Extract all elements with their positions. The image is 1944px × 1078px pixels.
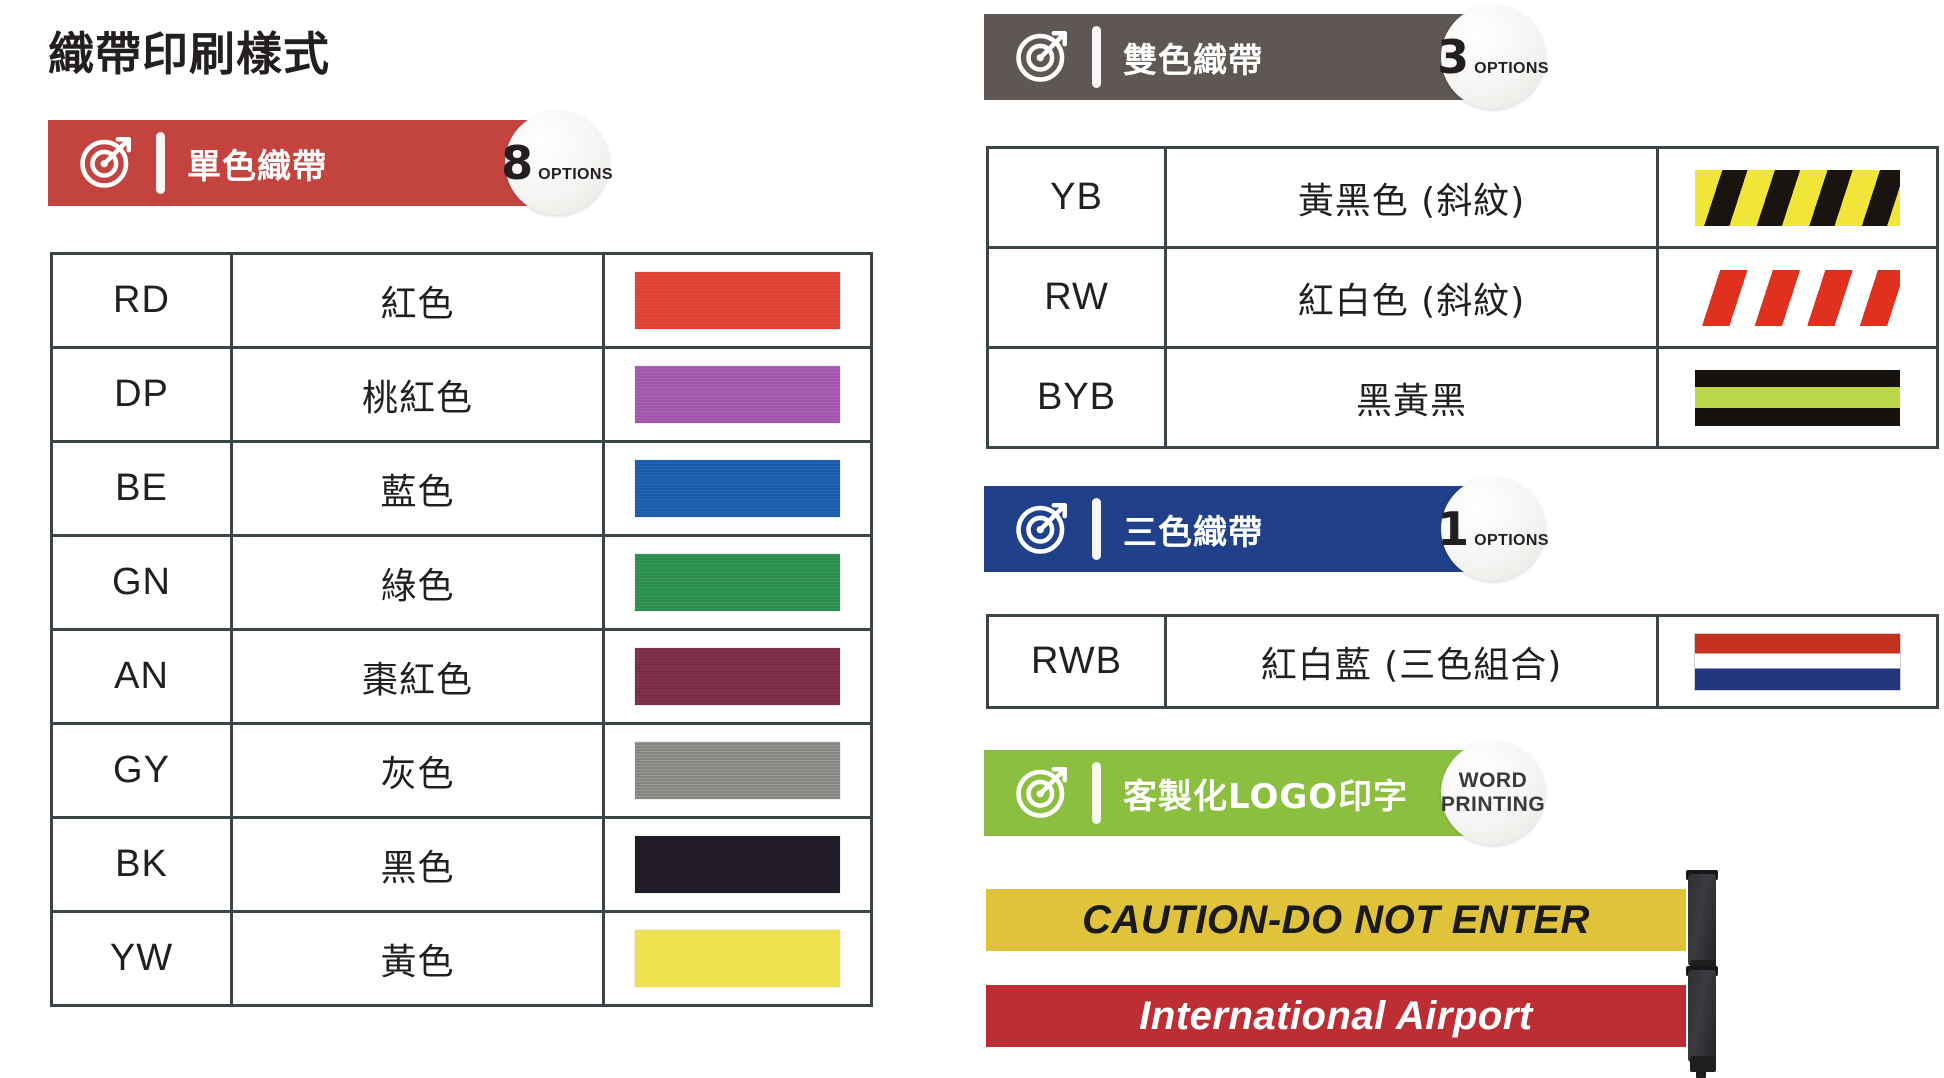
options-badge-double: 3 OPTIONS [1441,5,1545,109]
code-cell: GN [52,536,232,630]
section-label-single: 單色織帶 [187,139,327,188]
code-cell: BK [52,818,232,912]
name-cell: 黃黑色 (斜紋) [1166,148,1658,248]
swatch-cell [604,536,872,630]
name-cell: 黑色 [232,818,604,912]
code-cell: BE [52,442,232,536]
table-row: YB 黃黑色 (斜紋) [988,148,1938,248]
sample-band: International Airport [986,985,1686,1047]
badge-number: 1 [1437,506,1469,552]
name-cell: 黑黃黑 [1166,348,1658,448]
badge-word: OPTIONS [1474,532,1549,550]
swatch-cell [1658,148,1938,248]
sample-text: CAUTION-DO NOT ENTER [1082,898,1590,943]
code-cell: AN [52,630,232,724]
colour-swatch [635,648,840,705]
word-printing-badge: WORD PRINTING [1441,741,1545,845]
swatch-cell [604,724,872,818]
table-row: DP 桃紅色 [52,348,872,442]
table-row: BE 藍色 [52,442,872,536]
code-cell: DP [52,348,232,442]
options-badge-single: 8 OPTIONS [505,111,609,215]
header-divider [1092,498,1101,560]
table-row: RWB 紅白藍 (三色組合) [988,616,1938,708]
swatch-cell [1658,616,1938,708]
name-cell: 紅色 [232,254,604,348]
name-cell: 黃色 [232,912,604,1006]
table-row: GY 灰色 [52,724,872,818]
colour-swatch [635,272,840,329]
page-title: 織帶印刷樣式 [48,18,330,84]
swatch-cell [1658,348,1938,448]
target-icon [1014,498,1072,561]
target-icon [78,132,136,195]
swatch-cell [604,912,872,1006]
swatch-cell [1658,248,1938,348]
pattern-swatch-rwb [1695,634,1900,690]
badge-number: 8 [501,140,533,186]
code-cell: YW [52,912,232,1006]
header-divider [1092,762,1101,824]
table-row: AN 棗紅色 [52,630,872,724]
table-row: BYB 黑黃黑 [988,348,1938,448]
table-triple-colour: RWB 紅白藍 (三色組合) [986,614,1939,709]
webbing-endcap-icon [1686,970,1720,1062]
code-cell: BYB [988,348,1166,448]
options-badge-triple: 1 OPTIONS [1441,477,1545,581]
header-divider [156,132,165,194]
webbing-endcap-icon [1686,874,1720,966]
colour-swatch [635,460,840,517]
code-cell: RWB [988,616,1166,708]
swatch-cell [604,818,872,912]
webbing-print-style-page: 織帶印刷樣式 單色織帶 8 OPTIONS RD 紅色 [0,0,1944,1064]
name-cell: 桃紅色 [232,348,604,442]
badge-line-2: PRINTING [1441,793,1545,817]
sample-text: International Airport [1139,994,1532,1039]
code-cell: GY [52,724,232,818]
sample-band: CAUTION-DO NOT ENTER [986,889,1686,951]
colour-swatch [635,836,840,893]
swatch-cell [604,442,872,536]
section-label-double: 雙色織帶 [1123,33,1263,82]
code-cell: YB [988,148,1166,248]
table-single-colour: RD 紅色 DP 桃紅色 BE 藍色 GN [50,252,873,1007]
table-double-colour: YB 黃黑色 (斜紋) RW 紅白色 (斜紋) BYB 黑黃黑 [986,146,1939,449]
name-cell: 灰色 [232,724,604,818]
name-cell: 棗紅色 [232,630,604,724]
name-cell: 紅白色 (斜紋) [1166,248,1658,348]
code-cell: RW [988,248,1166,348]
badge-word: OPTIONS [538,166,613,184]
colour-swatch [635,742,840,799]
swatch-cell [604,254,872,348]
colour-swatch [635,930,840,987]
name-cell: 藍色 [232,442,604,536]
table-row: RW 紅白色 (斜紋) [988,248,1938,348]
target-icon [1014,762,1072,825]
swatch-cell [604,348,872,442]
target-icon [1014,26,1072,89]
section-label-logo: 客製化LOGO印字 [1123,769,1408,818]
printed-sample-caution: CAUTION-DO NOT ENTER [986,874,1720,966]
swatch-cell [604,630,872,724]
table-row: GN 綠色 [52,536,872,630]
table-row: BK 黑色 [52,818,872,912]
table-row: RD 紅色 [52,254,872,348]
pattern-swatch-rw [1695,270,1900,326]
colour-swatch [635,554,840,611]
name-cell: 紅白藍 (三色組合) [1166,616,1658,708]
colour-swatch [635,366,840,423]
pattern-swatch-byb [1695,370,1900,426]
badge-number: 3 [1437,34,1469,80]
header-divider [1092,26,1101,88]
badge-line-1: WORD [1459,769,1528,793]
table-row: YW 黃色 [52,912,872,1006]
code-cell: RD [52,254,232,348]
section-label-triple: 三色織帶 [1123,505,1263,554]
pattern-swatch-yb [1695,170,1900,226]
badge-word: OPTIONS [1474,60,1549,78]
name-cell: 綠色 [232,536,604,630]
printed-sample-airport: International Airport [986,970,1720,1062]
